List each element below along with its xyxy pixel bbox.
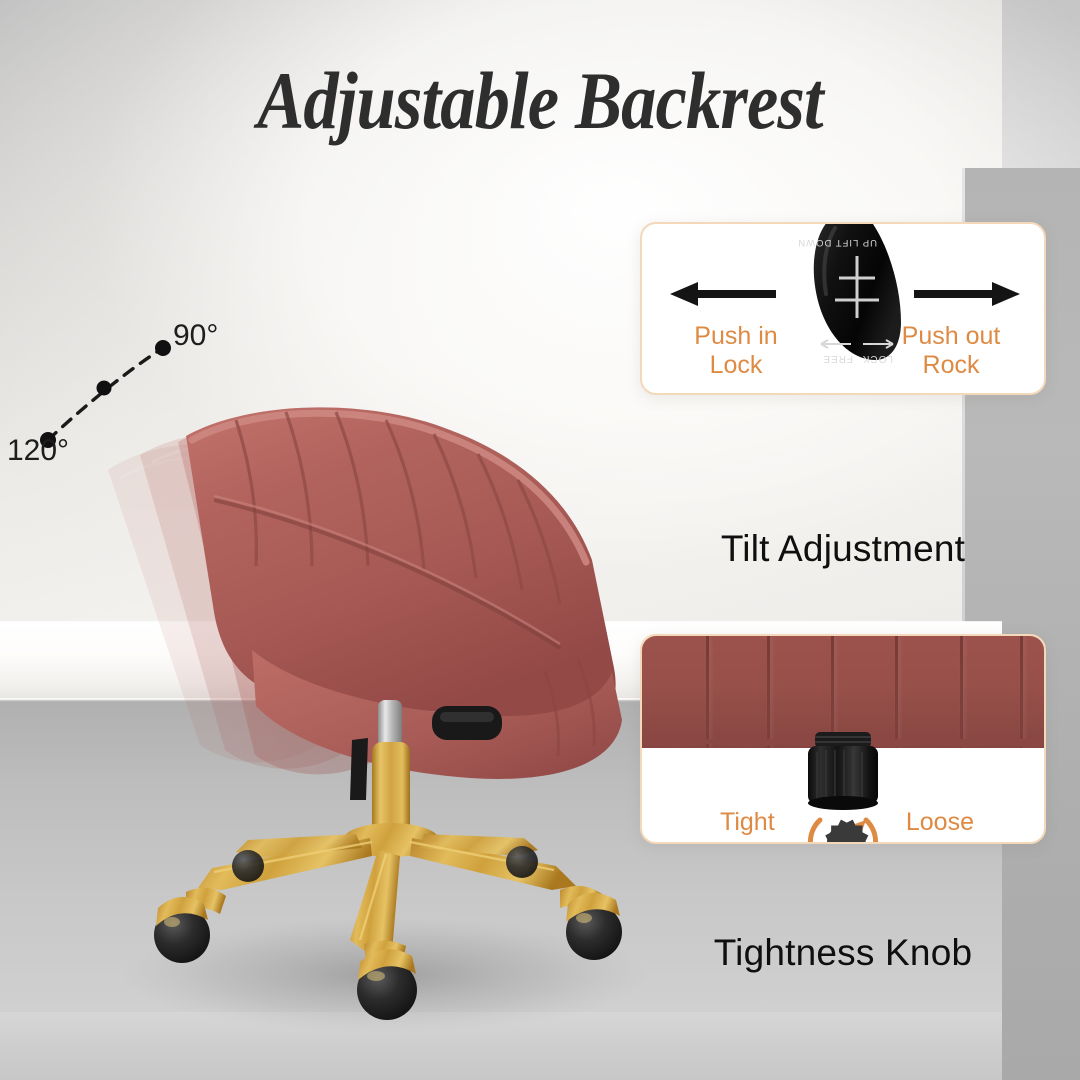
tightness-loose-label: Loose [906, 808, 974, 837]
angle-dot-90 [155, 340, 171, 356]
tightness-knob-caption: Tightness Knob [640, 932, 1046, 974]
tilt-push-out-line1: Push out [876, 322, 1026, 351]
tightness-tight-label: Tight [720, 808, 775, 837]
lever-text-updown: UP LIFT DOWN [797, 237, 877, 248]
tilt-adjustment-card: LOCK FREE UP LIFT DOWN Push in Lock Push… [640, 222, 1046, 395]
tilt-arrow-row [642, 276, 1044, 312]
caster-wheel [232, 850, 264, 882]
angle-label-90: 90° [173, 319, 218, 353]
arrow-right-icon [914, 280, 1022, 308]
caster-wheel [506, 846, 538, 878]
angle-label-120: 120° [7, 434, 69, 468]
rotate-cycle-icon [790, 794, 896, 844]
tightness-knob-card: Tight Loose [640, 634, 1046, 844]
lever-text-free: FREE [822, 353, 853, 364]
chair-tilt-lever [432, 706, 502, 740]
recline-angle-annotation: 90° 120° [0, 300, 280, 500]
tilt-push-in-line2: Lock [666, 351, 806, 380]
page-title: Adjustable Backrest [76, 54, 1005, 148]
tilt-push-out-line2: Rock [876, 351, 1026, 380]
tilt-push-out-label: Push out Rock [876, 322, 1026, 380]
tilt-push-in-label: Push in Lock [666, 322, 806, 380]
chair-height-lever [350, 738, 368, 800]
angle-arc-svg [0, 300, 280, 500]
tilt-adjustment-caption: Tilt Adjustment [640, 528, 1046, 570]
tilt-push-in-line1: Push in [666, 322, 806, 351]
tightness-direction-row: Tight Loose [642, 796, 1044, 844]
arrow-left-icon [668, 280, 776, 308]
angle-dot-mid [97, 381, 112, 396]
